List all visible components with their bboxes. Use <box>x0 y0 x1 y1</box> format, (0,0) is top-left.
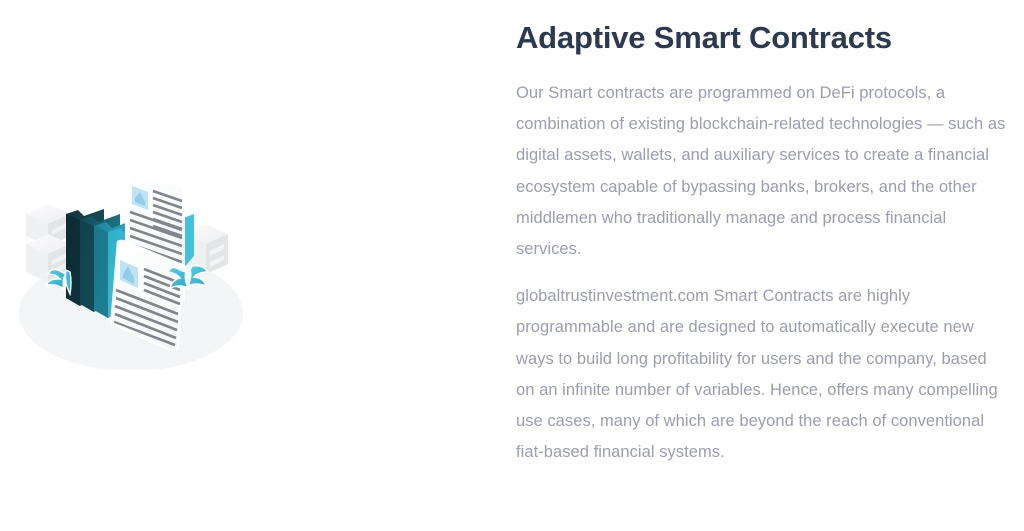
body-copy: Our Smart contracts are programmed on De… <box>516 78 1008 468</box>
text-column: Adaptive Smart Contracts Our Smart contr… <box>516 0 1008 531</box>
paragraph-1: Our Smart contracts are programmed on De… <box>516 78 1008 265</box>
illustration-column <box>0 0 500 531</box>
paragraph-2: globaltrustinvestment.com Smart Contract… <box>516 281 1008 468</box>
content-section: Adaptive Smart Contracts Our Smart contr… <box>0 0 1024 531</box>
page-title: Adaptive Smart Contracts <box>516 19 1008 57</box>
isometric-documents-folders-illustration <box>8 148 254 370</box>
